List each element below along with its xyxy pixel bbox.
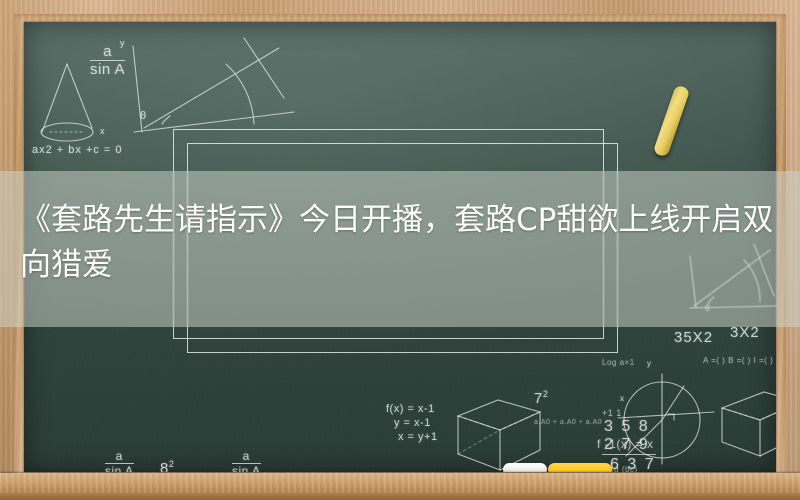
chalk-stick-white <box>503 463 547 472</box>
fraction-numerator-2: a <box>105 450 134 463</box>
chalk-seven-exponent: 2 <box>543 389 549 399</box>
chalk-ledge-lip <box>0 493 800 500</box>
fraction-denominator-2: sin A <box>105 463 134 472</box>
chalk-axis-y-label-right: y <box>647 359 652 368</box>
chalk-cone-drawing <box>34 62 114 152</box>
chalk-fraction-a-sin-a-3: a sin A <box>232 450 261 472</box>
chalk-seven-squared: 72 <box>534 389 548 407</box>
chalk-ledge <box>0 473 800 500</box>
fraction-numerator-3: a <box>232 450 261 463</box>
chalk-inverse-function: f -1(x) = x <box>597 437 654 451</box>
chalk-cube-right <box>716 380 776 460</box>
chalk-multiplication-35x2: 35X2 <box>674 329 713 346</box>
chalk-seven-base: 7 <box>534 390 543 407</box>
chalk-inline-equation: a.A0 + a.A0 + a.A0 <box>534 419 602 426</box>
chalk-eight-base: 8 <box>160 460 169 472</box>
chalk-axis-x-label-right: x <box>620 394 625 403</box>
chalk-quadratic-equation: ax2 + bx +c = 0 <box>32 144 123 156</box>
chalk-stick-yellow <box>548 463 612 472</box>
chalk-sum-top: 3 5 8 <box>604 418 650 436</box>
chalk-fx-line3: x = y+1 <box>386 430 438 444</box>
fraction-denominator-3: sin A <box>232 463 261 472</box>
chalk-sum-divider <box>602 454 656 455</box>
chalk-sum-carry: +1 1 <box>602 408 622 418</box>
chalk-angle-theta-left: θ <box>140 110 147 122</box>
chalk-angle-diagram-left <box>104 36 304 161</box>
chalk-fx-line2: y = x-1 <box>386 416 438 430</box>
chalk-eight-exponent: 2 <box>169 459 175 469</box>
chalk-stick-floating <box>653 85 691 158</box>
chalk-eight-squared: 82 <box>160 459 174 472</box>
chalkboard-banner: a sin A y x θ <box>0 0 800 500</box>
chalk-axis-x-label-left: x <box>100 126 105 136</box>
chalk-function-lines: f(x) = x-1 y = x-1 x = y+1 <box>386 402 438 444</box>
chalk-axis-y-label-left: y <box>120 38 125 48</box>
chalk-fx-line1: f(x) = x-1 <box>386 402 438 416</box>
headline-text: 《套路先生请指示》今日开播，套路CP甜欲上线开启双向猎爱 <box>0 198 800 288</box>
chalk-fraction-a-sin-a-2: a sin A <box>105 450 134 472</box>
